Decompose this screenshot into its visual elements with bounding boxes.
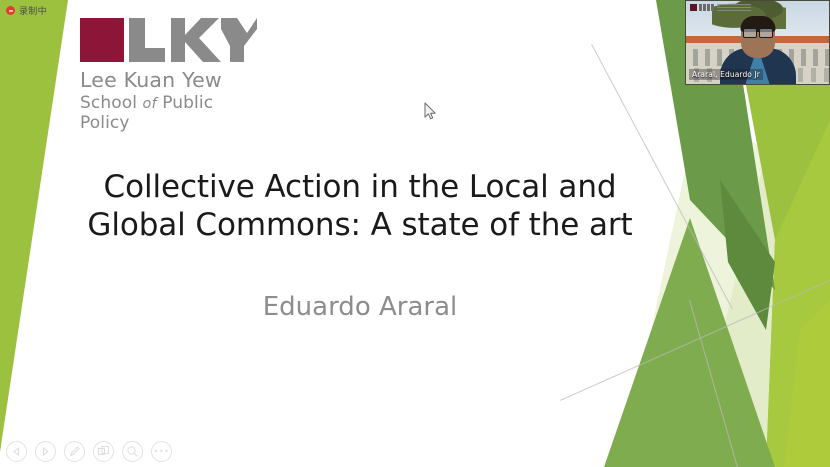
- slideshow-toolbar: •••: [6, 441, 172, 462]
- webcam-lky-watermark-icon: [690, 4, 751, 11]
- lky-logo-line2-italic: of: [143, 96, 157, 112]
- slide-title-line-2: Global Commons: A state of the art: [60, 206, 660, 244]
- slide-subtitle-author: Eduardo Araral: [60, 292, 660, 322]
- recording-indicator: 录制中: [6, 4, 47, 17]
- next-slide-button[interactable]: [35, 441, 56, 462]
- recording-label: 录制中: [19, 4, 47, 17]
- more-options-button[interactable]: •••: [151, 441, 172, 462]
- lky-logo-line2-pre: School: [80, 93, 143, 113]
- lky-logo-mark: [80, 18, 260, 62]
- lky-logo-line-1: Lee Kuan Yew: [80, 68, 260, 92]
- previous-slide-button[interactable]: [6, 441, 27, 462]
- lky-logo-letters: [129, 18, 260, 62]
- lky-logo-square-icon: [80, 18, 124, 62]
- webcam-thumbnail[interactable]: Araral, Eduardo Jr: [685, 0, 830, 85]
- presentation-screen: Lee Kuan Yew School of Public Policy Col…: [0, 0, 830, 467]
- webcam-watermark-bars: [699, 4, 715, 11]
- record-dot-icon: [6, 6, 15, 15]
- webcam-person-glasses-icon: [743, 28, 773, 36]
- slide-title: Collective Action in the Local and Globa…: [60, 168, 660, 244]
- zoom-magnifier-button[interactable]: [122, 441, 143, 462]
- ellipsis-icon: •••: [154, 448, 170, 456]
- slide-title-line-1: Collective Action in the Local and: [60, 168, 660, 206]
- webcam-participant-name: Araral, Eduardo Jr: [689, 69, 763, 80]
- lky-logo-line-2: School of Public Policy: [80, 93, 260, 133]
- lky-logo: Lee Kuan Yew School of Public Policy: [80, 18, 260, 133]
- annotate-pen-button[interactable]: [64, 441, 85, 462]
- webcam-watermark-text: [717, 4, 751, 11]
- webcam-watermark-square: [690, 4, 697, 11]
- slides-overview-button[interactable]: [93, 441, 114, 462]
